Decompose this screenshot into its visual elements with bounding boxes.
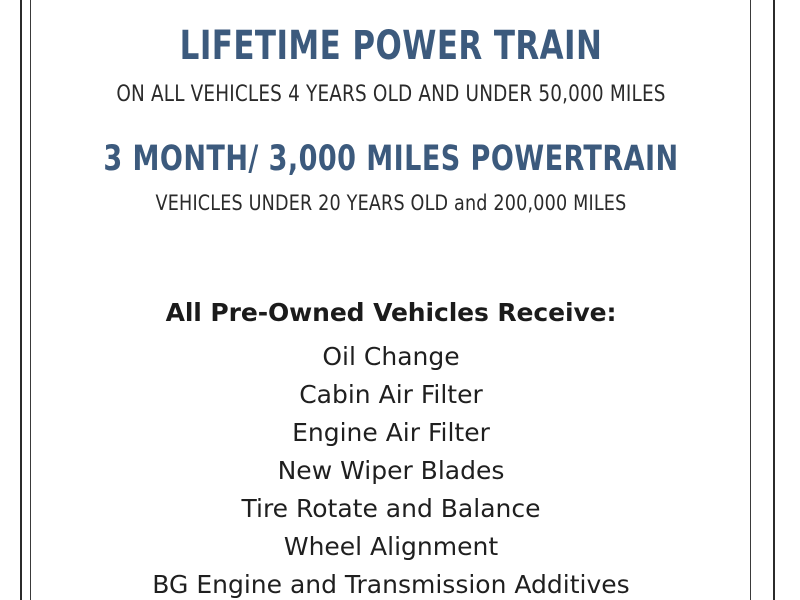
warranty-headline-3month-powertrain: 3 MONTH/ 3,000 MILES POWERTRAIN bbox=[82, 142, 699, 177]
frame-rule-right-outer bbox=[773, 0, 775, 600]
frame-rule-right-inner bbox=[750, 0, 751, 600]
frame-rule-left-outer bbox=[20, 0, 22, 600]
service-list-item: Oil Change bbox=[32, 338, 750, 376]
service-list-item: Tire Rotate and Balance bbox=[32, 490, 750, 528]
warranty-headline-lifetime-powertrain: LIFETIME POWER TRAIN bbox=[82, 26, 699, 66]
service-list-item: Cabin Air Filter bbox=[32, 376, 750, 414]
warranty-subline-lifetime-powertrain: ON ALL VEHICLES 4 YEARS OLD AND UNDER 50… bbox=[57, 84, 725, 106]
service-list-item: Engine Air Filter bbox=[32, 414, 750, 452]
services-section: All Pre-Owned Vehicles Receive: Oil Chan… bbox=[32, 300, 750, 600]
service-list-item: New Wiper Blades bbox=[32, 452, 750, 490]
flyer-page: LIFETIME POWER TRAIN ON ALL VEHICLES 4 Y… bbox=[0, 0, 800, 600]
frame-rule-left-inner bbox=[30, 0, 31, 600]
services-heading: All Pre-Owned Vehicles Receive: bbox=[32, 300, 750, 325]
service-list: Oil Change Cabin Air Filter Engine Air F… bbox=[32, 338, 750, 600]
service-list-item: BG Engine and Transmission Additives bbox=[32, 566, 750, 600]
service-list-item: Wheel Alignment bbox=[32, 528, 750, 566]
warranty-subline-3month-powertrain: VEHICLES UNDER 20 YEARS OLD and 200,000 … bbox=[57, 193, 725, 214]
